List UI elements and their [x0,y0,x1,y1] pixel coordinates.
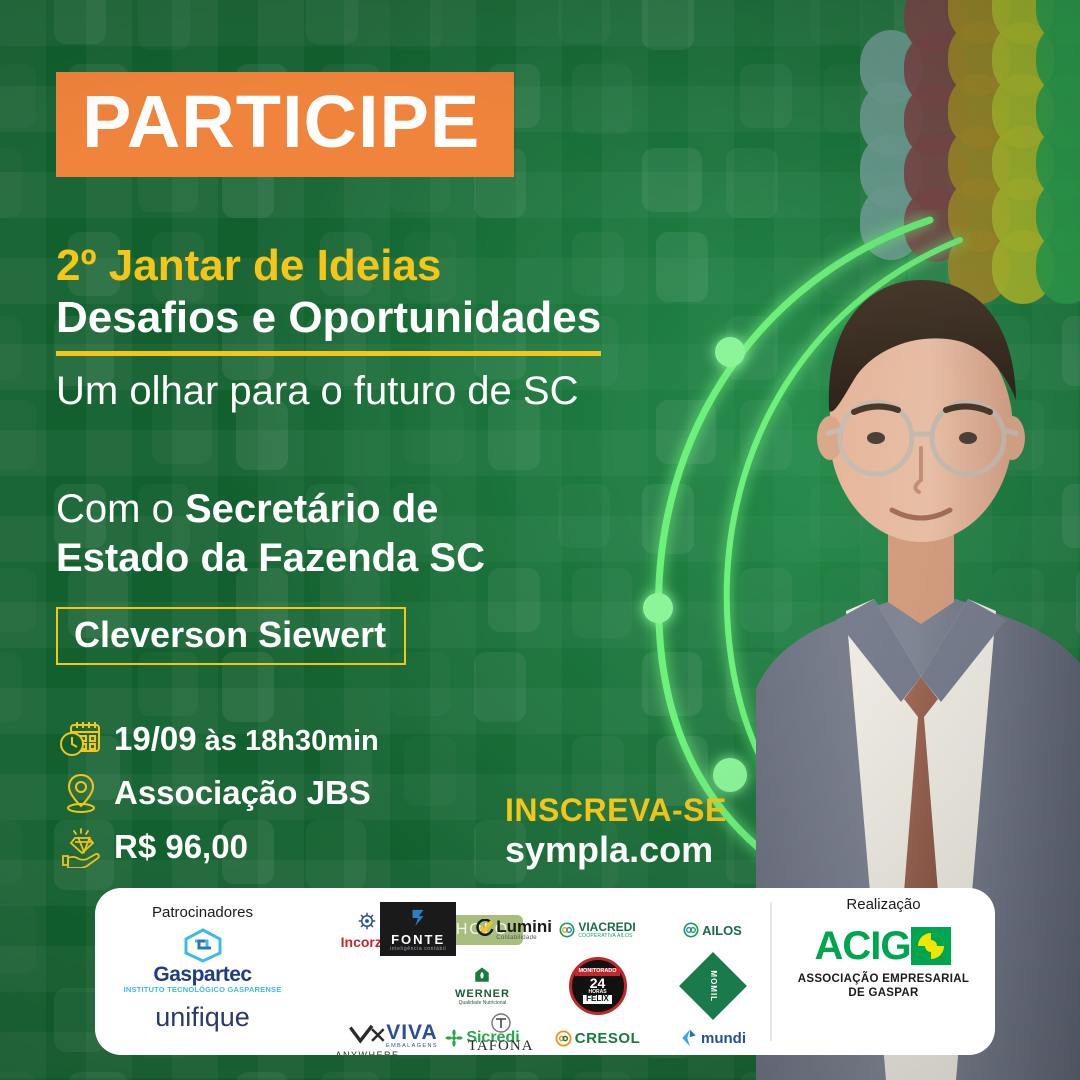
logo-gaspartec: Gaspartec INSTITUTO TECNOLÓGICO GASPAREN… [95,927,310,994]
logo-viva: VIVA EMBALAGENS [386,1022,438,1049]
gaspartec-mark-icon [180,927,226,963]
acig-subtitle: ASSOCIAÇÃO EMPRESARIAL DE GASPAR [798,972,969,1001]
ailos-mark-icon [683,922,699,938]
lumini-label: Lumini [496,918,552,935]
sponsors-title: Patrocinadores [95,904,310,921]
tafona-mark-icon [489,1012,513,1034]
incorzul-mark-icon [358,912,376,930]
fonte-label: FONTE [390,933,446,946]
sponsors-primary-column: Patrocinadores Gaspartec INSTITUTO TECNO… [95,896,310,1055]
momil-label: MOMIL [708,970,717,1002]
acig-mark-icon [909,925,953,967]
sponsors-middle-column: FONTE inteligência contábil Lumini Conta… [380,902,610,1055]
lumini-mark-icon [474,919,494,939]
mundi-label: mundi [701,1031,746,1046]
ailos-label: AILOS [702,924,742,937]
viva-label: VIVA [386,1022,438,1043]
footer-partners-card: Patrocinadores Gaspartec INSTITUTO TECNO… [95,888,995,1055]
gaspartec-label: Gaspartec [153,963,251,986]
mundi-mark-icon [679,1028,699,1048]
acig-label: ACIG [815,926,911,966]
logo-momil: MOMIL [655,958,770,1014]
logo-ailos: AILOS [655,902,770,958]
logo-fonte: FONTE inteligência contábil [380,902,456,956]
acig-subtitle-line2: DE GASPAR [798,986,969,1000]
gaspartec-subtitle: INSTITUTO TECNOLÓGICO GASPARENSE [124,986,282,994]
logo-lumini: Lumini Contabilidade [474,918,552,941]
realization-title: Realização [772,896,995,913]
fonte-subtitle: inteligência contábil [390,946,446,952]
fonte-mark-icon [407,908,429,928]
logo-unifique: unifique [95,1004,310,1031]
tafona-subtitle: MÓVEIS E DECORAÇÕES [468,1054,534,1055]
tafona-label: TAFONA [468,1039,534,1054]
event-poster: PARTICIPE 2º Jantar de Ideias Desafios e… [0,0,1080,1080]
viva-subtitle: EMBALAGENS [386,1043,438,1049]
logo-tafona: TAFONA MÓVEIS E DECORAÇÕES [468,1012,534,1055]
logo-acig: ACIG ASSOCIAÇÃO EMPRESARIAL DE GASPAR [772,925,995,1001]
realization-section: Realização ACIG ASSOCIAÇÃO EMPRESARIAL D… [772,888,995,1055]
acig-subtitle-line1: ASSOCIAÇÃO EMPRESARIAL [798,972,969,986]
